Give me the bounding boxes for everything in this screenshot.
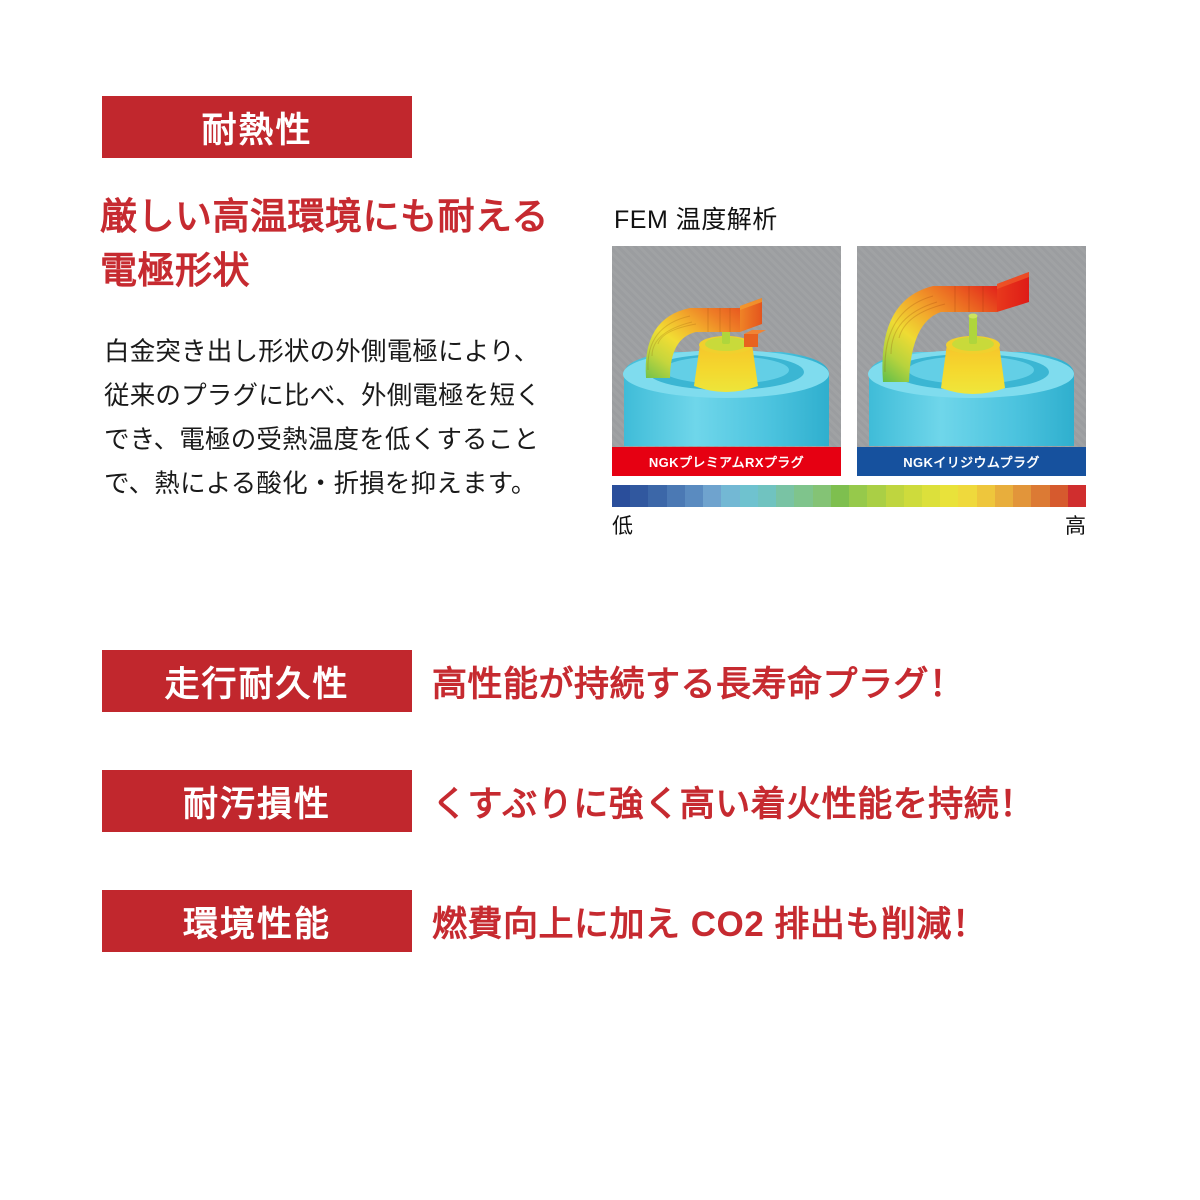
fem-analysis-block: FEM 温度解析 xyxy=(612,200,1086,540)
fem-thermal-render-iridium xyxy=(857,246,1086,476)
feature-text-durability: 高性能が持続する長寿命プラグ！ xyxy=(432,650,965,712)
colorbar-segment-22 xyxy=(1013,485,1031,507)
feature-badge-environmental: 環境性能 xyxy=(102,890,412,952)
scale-low-label: 低 xyxy=(612,510,633,540)
colorbar-segment-21 xyxy=(995,485,1013,507)
body-line-2: 従来のプラグに比べ、外側電極を短く xyxy=(104,375,584,419)
colorbar-segment-15 xyxy=(886,485,904,507)
heat-resistance-body-text: 白金突き出し形状の外側電極により、 従来のプラグに比べ、外側電極を短く でき、電… xyxy=(104,331,584,506)
heat-resistance-badge: 耐熱性 xyxy=(102,96,412,158)
colorbar-segment-2 xyxy=(648,485,666,507)
colorbar-segment-6 xyxy=(721,485,739,507)
colorbar-segment-14 xyxy=(867,485,885,507)
colorbar-segment-8 xyxy=(758,485,776,507)
fem-scale-labels: 低 高 xyxy=(612,510,1086,540)
colorbar-segment-12 xyxy=(831,485,849,507)
colorbar-segment-13 xyxy=(849,485,867,507)
feature-badge-fouling-resistance: 耐汚損性 xyxy=(102,770,412,832)
colorbar-segment-5 xyxy=(703,485,721,507)
colorbar-segment-9 xyxy=(776,485,794,507)
colorbar-segment-10 xyxy=(794,485,812,507)
feature-text-environmental: 燃費向上に加え CO2 排出も削減！ xyxy=(432,890,987,952)
fem-thermal-render-rx xyxy=(612,246,841,476)
heading-line-2: 電極形状 xyxy=(100,244,600,298)
colorbar-segment-20 xyxy=(977,485,995,507)
fem-analysis-title: FEM 温度解析 xyxy=(612,200,1086,236)
feature-badge-durability: 走行耐久性 xyxy=(102,650,412,712)
colorbar-segment-3 xyxy=(667,485,685,507)
fem-temperature-colorbar xyxy=(612,485,1086,507)
feature-text-fouling-resistance: くすぶりに強く高い着火性能を持続！ xyxy=(432,770,1035,832)
colorbar-segment-1 xyxy=(630,485,648,507)
heading-line-1: 厳しい高温環境にも耐える xyxy=(100,196,549,237)
fem-panel-caption-rx: NGKプレミアムRXプラグ xyxy=(612,447,841,476)
colorbar-segment-24 xyxy=(1050,485,1068,507)
fem-panel-caption-iridium: NGKイリジウムプラグ xyxy=(857,447,1086,476)
body-line-1: 白金突き出し形状の外側電極により、 xyxy=(104,331,584,375)
colorbar-segment-19 xyxy=(958,485,976,507)
colorbar-segment-7 xyxy=(740,485,758,507)
colorbar-segment-0 xyxy=(612,485,630,507)
fem-panel-group: NGKプレミアムRXプラグ xyxy=(612,246,1086,476)
colorbar-segment-16 xyxy=(904,485,922,507)
colorbar-segment-17 xyxy=(922,485,940,507)
colorbar-segment-4 xyxy=(685,485,703,507)
body-line-4: で、熱による酸化・折損を抑えます。 xyxy=(104,463,584,507)
colorbar-segment-25 xyxy=(1068,485,1086,507)
scale-high-label: 高 xyxy=(1065,510,1086,540)
heat-resistance-heading: 厳しい高温環境にも耐える 電極形状 xyxy=(100,190,600,297)
colorbar-segment-23 xyxy=(1031,485,1049,507)
body-line-3: でき、電極の受熱温度を低くすること xyxy=(104,419,584,463)
colorbar-segment-18 xyxy=(940,485,958,507)
fem-panel-premium-rx: NGKプレミアムRXプラグ xyxy=(612,246,841,476)
fem-panel-iridium: NGKイリジウムプラグ xyxy=(857,246,1086,476)
colorbar-segment-11 xyxy=(813,485,831,507)
